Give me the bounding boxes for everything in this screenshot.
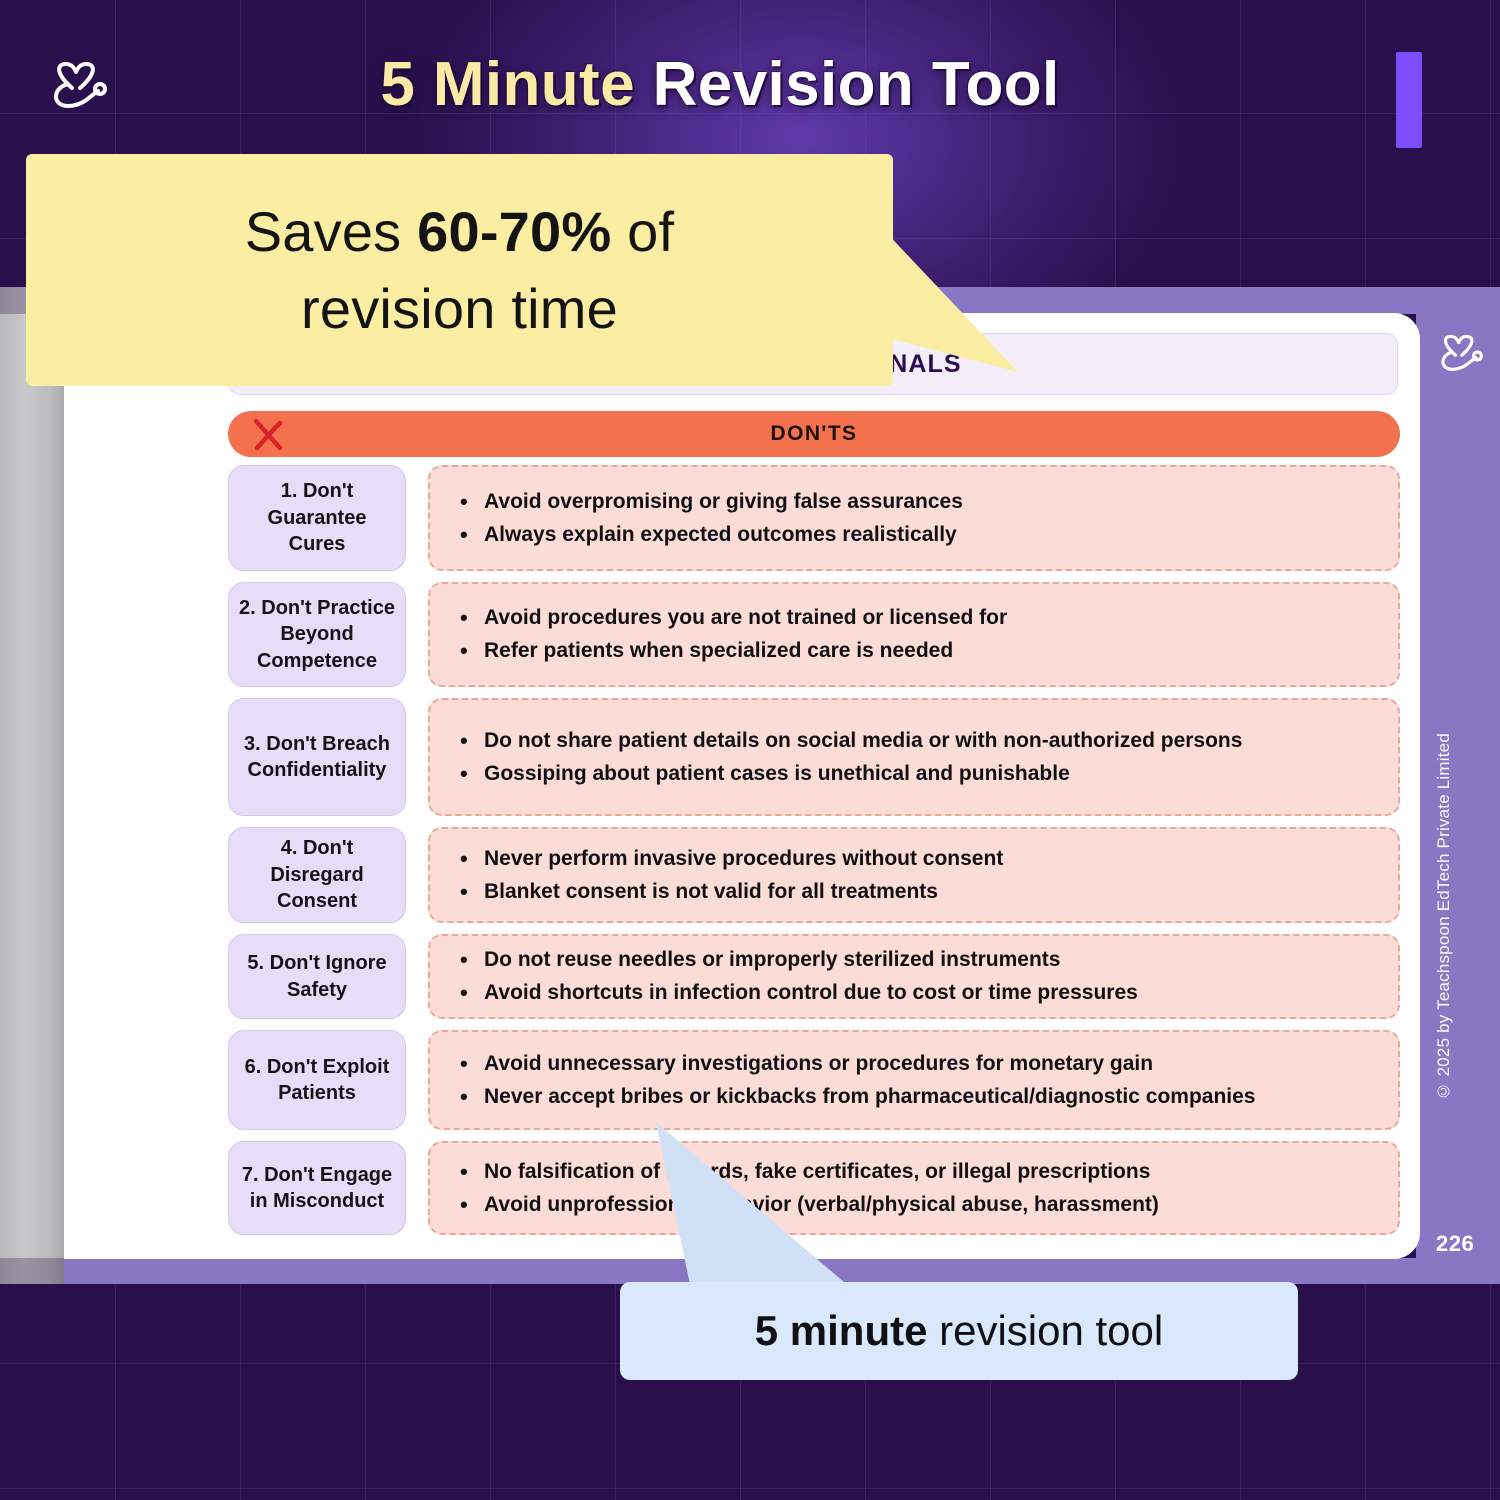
page-title: 5 Minute Revision Tool [0,52,1500,119]
rail-heart-stethoscope-logo-icon [1432,331,1490,381]
savings-callout-line-1: Saves 60-70% of [245,193,675,270]
list-item: Avoid unnecessary investigations or proc… [460,1049,1380,1079]
list-item: Refer patients when specialized care is … [460,636,1380,666]
table-row: 1. Don't Guarantee Cures Avoid overpromi… [228,465,1400,571]
list-item: Never perform invasive procedures withou… [460,844,1380,874]
page-title-rest: Revision Tool [635,50,1060,119]
list-item: Never accept bribes or kickbacks from ph… [460,1082,1380,1112]
copyright-text: © 2025 by Teachspoon EdTech Private Limi… [1434,733,1468,1101]
page-title-accent: 5 Minute [380,50,635,119]
row-body: Avoid overpromising or giving false assu… [428,465,1400,571]
blue-callout-tail [630,1120,860,1295]
poster-canvas: 5 Minute Revision Tool © 2025 by Teachsp… [0,0,1500,1500]
row-label: 4. Don't Disregard Consent [228,827,406,923]
row-body: Avoid unnecessary investigations or proc… [428,1030,1400,1130]
donts-header-label: DON'TS [771,422,858,446]
savings-suffix: of [611,200,674,263]
revision-tool-callout-text: 5 minute revision tool [755,1308,1163,1354]
row-body: Do not reuse needles or improperly steri… [428,934,1400,1019]
list-item: Blanket consent is not valid for all tre… [460,877,1380,907]
book-spine-bottom-shade [0,1258,64,1284]
savings-percent: 60-70% [417,200,611,263]
row-body: Never perform invasive procedures withou… [428,827,1400,923]
donts-header-bar: DON'TS [228,411,1400,457]
table-row: 2. Don't Practice Beyond Competence Avoi… [228,582,1400,687]
savings-callout-line-2: revision time [301,270,618,347]
row-label: 1. Don't Guarantee Cures [228,465,406,571]
book-spine [0,287,64,1284]
savings-callout: Saves 60-70% of revision time [26,154,893,386]
list-item: Avoid shortcuts in infection control due… [460,978,1380,1008]
list-item: Do not share patient details on social m… [460,726,1380,756]
row-label: 2. Don't Practice Beyond Competence [228,582,406,687]
list-item: Do not reuse needles or improperly steri… [460,945,1380,975]
row-label: 5. Don't Ignore Safety [228,934,406,1019]
revision-tool-strong: 5 minute [755,1307,928,1354]
table-row: 4. Don't Disregard Consent Never perform… [228,827,1400,923]
list-item: Gossiping about patient cases is unethic… [460,759,1380,789]
table-row: 3. Don't Breach Confidentiality Do not s… [228,698,1400,816]
table-row: 5. Don't Ignore Safety Do not reuse need… [228,934,1400,1019]
revision-tool-callout: 5 minute revision tool [620,1282,1298,1380]
page-side-rail: © 2025 by Teachspoon EdTech Private Limi… [1416,313,1500,1259]
red-cross-x-icon [250,417,286,451]
row-label: 6. Don't Exploit Patients [228,1030,406,1130]
savings-prefix: Saves [245,200,417,263]
list-item: Avoid unprofessional behavior (verbal/ph… [460,1190,1380,1220]
yellow-callout-tail [880,226,1020,374]
list-item: Avoid overpromising or giving false assu… [460,487,1380,517]
list-item: Always explain expected outcomes realist… [460,520,1380,550]
table-row: 6. Don't Exploit Patients Avoid unnecess… [228,1030,1400,1130]
revision-tool-rest: revision tool [927,1307,1163,1354]
title-accent-bar [1396,52,1422,148]
row-body: Avoid procedures you are not trained or … [428,582,1400,687]
row-body: Do not share patient details on social m… [428,698,1400,816]
row-label: 7. Don't Engage in Misconduct [228,1141,406,1235]
row-label: 3. Don't Breach Confidentiality [228,698,406,816]
list-item: No falsification of records, fake certif… [460,1157,1380,1187]
row-body: No falsification of records, fake certif… [428,1141,1400,1235]
page-number: 226 [1436,1231,1474,1257]
list-item: Avoid procedures you are not trained or … [460,603,1380,633]
page-content: ...RE PROFESSIONALS DON'TS 1. Don't Guar… [62,313,1420,1259]
